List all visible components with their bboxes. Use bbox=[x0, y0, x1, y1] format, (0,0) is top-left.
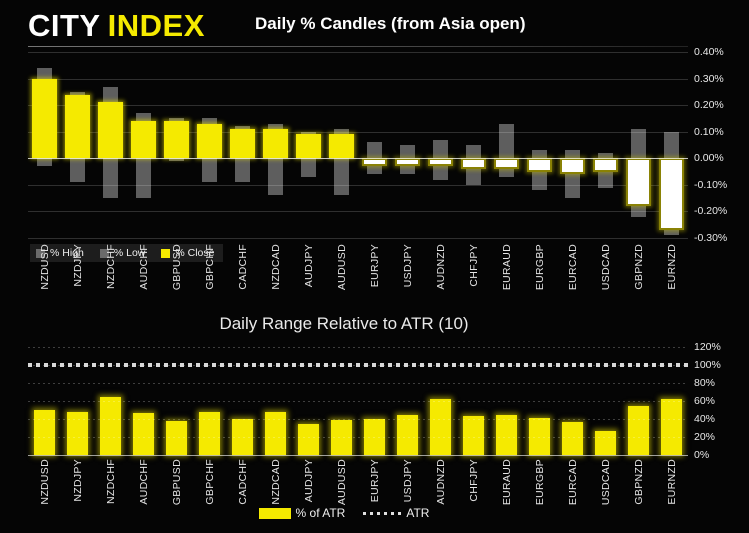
candle-body-down bbox=[626, 158, 651, 206]
chart2-y-tick-label: 120% bbox=[694, 341, 721, 353]
candle-body-up bbox=[98, 102, 123, 158]
chart1-x-tick-label: USDCAD bbox=[600, 244, 612, 290]
chart2-x-tick-label: EURAUD bbox=[501, 459, 513, 505]
chart1-x-tick: EURNZD bbox=[655, 242, 688, 314]
chart1-candle-cadchf[interactable] bbox=[226, 52, 259, 238]
chart1-candle-gbpusd[interactable] bbox=[160, 52, 193, 238]
chart1-x-tick-label: NZDJPY bbox=[72, 244, 84, 287]
chart1-x-tick: USDJPY bbox=[391, 242, 424, 314]
chart1-gridline bbox=[28, 52, 688, 53]
chart1-candle-nzdusd[interactable] bbox=[28, 52, 61, 238]
chart1-y-tick-label: 0.40% bbox=[694, 46, 724, 58]
chart1-gridline bbox=[28, 105, 688, 106]
chart1-candle-usdcad[interactable] bbox=[589, 52, 622, 238]
chart1-x-axis: NZDUSDNZDJPYNZDCHFAUDCHFGBPUSDGBPCHFCADC… bbox=[28, 242, 688, 314]
chart1-x-tick: NZDJPY bbox=[61, 242, 94, 314]
chart1-x-tick-label: AUDJPY bbox=[303, 244, 315, 287]
chart2-x-tick-label: GBPNZD bbox=[633, 459, 645, 505]
chart1-candle-columns bbox=[28, 52, 688, 238]
chart2-legend: % of ATR ATR bbox=[0, 506, 660, 520]
chart2-y-tick-label: 0% bbox=[694, 449, 709, 461]
chart1-gridline bbox=[28, 238, 688, 239]
chart2-x-tick-label: USDCAD bbox=[600, 459, 612, 505]
chart1-y-tick-label: -0.30% bbox=[694, 232, 727, 244]
brand-logo: CITYINDEX bbox=[28, 8, 205, 44]
chart2-gridline bbox=[28, 437, 688, 438]
dashboard-root: CITYINDEX Daily % Candles (from Asia ope… bbox=[0, 0, 749, 533]
chart1-x-tick-label: CADCHF bbox=[237, 244, 249, 290]
candle-body-down bbox=[593, 158, 618, 171]
chart1-x-tick-label: AUDNZD bbox=[435, 244, 447, 290]
chart2-x-tick-label: AUDCHF bbox=[138, 459, 150, 505]
chart2-atr-reference-line bbox=[28, 363, 688, 367]
candle-body-up bbox=[230, 129, 255, 158]
atr-bar bbox=[100, 397, 122, 455]
chart1-x-tick: EURAUD bbox=[490, 242, 523, 314]
chart1-candle-chfjpy[interactable] bbox=[457, 52, 490, 238]
atr-bar bbox=[34, 410, 56, 455]
chart1-candle-euraud[interactable] bbox=[490, 52, 523, 238]
chart1-x-tick-label: CHFJPY bbox=[468, 244, 480, 287]
chart1-x-tick-label: NZDCAD bbox=[270, 244, 282, 290]
chart1-candle-usdjpy[interactable] bbox=[391, 52, 424, 238]
chart1-candle-gbpchf[interactable] bbox=[193, 52, 226, 238]
legend-label-atr: ATR bbox=[406, 506, 429, 520]
chart1-x-tick: GBPCHF bbox=[193, 242, 226, 314]
chart1-x-tick: CHFJPY bbox=[457, 242, 490, 314]
candle-body-down bbox=[494, 158, 519, 169]
candle-body-down bbox=[527, 158, 552, 171]
chart1-y-tick-label: 0.00% bbox=[694, 152, 724, 164]
chart1-x-tick: USDCAD bbox=[589, 242, 622, 314]
chart2-x-tick-label: EURGBP bbox=[534, 459, 546, 505]
chart2-x-tick-label: EURCAD bbox=[567, 459, 579, 505]
candle-body-up bbox=[197, 124, 222, 159]
chart1-x-tick: AUDCHF bbox=[127, 242, 160, 314]
candle-body-up bbox=[263, 129, 288, 158]
atr-bar bbox=[562, 422, 584, 455]
atr-bar bbox=[496, 415, 518, 455]
chart2-x-tick-label: NZDJPY bbox=[72, 459, 84, 502]
chart1-x-tick-label: EURGBP bbox=[534, 244, 546, 290]
chart2-x-tick-label: NZDCHF bbox=[105, 459, 117, 504]
chart1-gridline bbox=[28, 211, 688, 212]
chart2-x-tick-label: EURJPY bbox=[369, 459, 381, 502]
brand-index: INDEX bbox=[108, 8, 205, 43]
chart1-candle-nzdchf[interactable] bbox=[94, 52, 127, 238]
chart2-y-tick-label: 100% bbox=[694, 359, 721, 371]
candle-body-down bbox=[461, 158, 486, 169]
chart1-candle-nzdjpy[interactable] bbox=[61, 52, 94, 238]
chart1-y-tick-label: 0.20% bbox=[694, 99, 724, 111]
chart1-x-tick: EURGBP bbox=[523, 242, 556, 314]
chart2-y-tick-label: 20% bbox=[694, 431, 715, 443]
chart1-candle-audchf[interactable] bbox=[127, 52, 160, 238]
chart1-y-tick-label: 0.10% bbox=[694, 126, 724, 138]
chart1-x-tick: AUDUSD bbox=[325, 242, 358, 314]
chart1-x-tick-label: NZDCHF bbox=[105, 244, 117, 289]
chart1-x-tick: GBPNZD bbox=[622, 242, 655, 314]
atr-bar bbox=[463, 416, 485, 455]
atr-bar bbox=[298, 424, 320, 456]
chart2-baseline bbox=[28, 455, 688, 456]
chart2-x-tick-label: CADCHF bbox=[237, 459, 249, 505]
atr-bar bbox=[397, 415, 419, 455]
candle-body-down bbox=[560, 158, 585, 174]
candle-body-up bbox=[329, 134, 354, 158]
chart1-x-tick-label: EURCAD bbox=[567, 244, 579, 290]
chart1-x-tick-label: NZDUSD bbox=[39, 244, 51, 290]
chart1-zero-line bbox=[28, 158, 688, 159]
chart2-x-tick-label: AUDUSD bbox=[336, 459, 348, 505]
chart1-x-tick: AUDJPY bbox=[292, 242, 325, 314]
chart2-title: Daily Range Relative to ATR (10) bbox=[0, 314, 660, 334]
chart2-gridline bbox=[28, 401, 688, 402]
atr-bar bbox=[430, 399, 452, 455]
candle-body-up bbox=[131, 121, 156, 158]
legend-label-pct-atr: % of ATR bbox=[296, 506, 346, 520]
chart1-x-tick-label: AUDUSD bbox=[336, 244, 348, 290]
chart1-x-tick: GBPUSD bbox=[160, 242, 193, 314]
chart1-x-tick-label: AUDCHF bbox=[138, 244, 150, 290]
chart1-candle-nzdcad[interactable] bbox=[259, 52, 292, 238]
candle-body-down bbox=[428, 158, 453, 166]
candle-body-down bbox=[659, 158, 684, 230]
chart2-x-tick-label: AUDNZD bbox=[435, 459, 447, 505]
chart2-gridline bbox=[28, 347, 688, 348]
legend-item-pct-of-atr: % of ATR bbox=[259, 506, 346, 520]
chart1-x-tick-label: GBPNZD bbox=[633, 244, 645, 290]
daily-percent-candles-chart: 0.40%0.30%0.20%0.10%0.00%-0.10%-0.20%-0.… bbox=[0, 46, 749, 314]
candle-body-up bbox=[32, 79, 57, 159]
chart2-y-tick-label: 80% bbox=[694, 377, 715, 389]
page-header: CITYINDEX Daily % Candles (from Asia ope… bbox=[0, 0, 749, 46]
chart1-x-tick: EURCAD bbox=[556, 242, 589, 314]
chart1-y-tick-label: -0.10% bbox=[694, 179, 727, 191]
atr-bar bbox=[628, 406, 650, 455]
legend-swatch-pct-atr-icon bbox=[259, 508, 291, 519]
chart2-y-tick-label: 60% bbox=[694, 395, 715, 407]
chart1-gridline bbox=[28, 132, 688, 133]
atr-bar bbox=[661, 399, 683, 455]
candle-body-up bbox=[164, 121, 189, 158]
chart2-x-tick-label: NZDUSD bbox=[39, 459, 51, 505]
chart1-candle-audusd[interactable] bbox=[325, 52, 358, 238]
chart1-candle-gbpnzd[interactable] bbox=[622, 52, 655, 238]
chart1-candle-audjpy[interactable] bbox=[292, 52, 325, 238]
chart2-gridline bbox=[28, 383, 688, 384]
chart1-gridline bbox=[28, 79, 688, 80]
chart2-x-tick-label: EURNZD bbox=[666, 459, 678, 505]
chart1-candle-eurcad[interactable] bbox=[556, 52, 589, 238]
chart2-y-tick-label: 40% bbox=[694, 413, 715, 425]
legend-swatch-atr-icon bbox=[363, 512, 401, 515]
chart1-x-tick-label: GBPCHF bbox=[204, 244, 216, 290]
chart1-x-tick: CADCHF bbox=[226, 242, 259, 314]
chart1-x-tick: NZDUSD bbox=[28, 242, 61, 314]
chart1-x-tick-label: EURNZD bbox=[666, 244, 678, 290]
chart1-candle-eurgbp[interactable] bbox=[523, 52, 556, 238]
chart1-x-tick: EURJPY bbox=[358, 242, 391, 314]
chart2-x-tick-label: GBPCHF bbox=[204, 459, 216, 505]
atr-bar bbox=[595, 431, 617, 455]
chart1-candle-eurnzd[interactable] bbox=[655, 52, 688, 238]
chart2-x-tick-label: GBPUSD bbox=[171, 459, 183, 505]
chart1-x-tick: NZDCHF bbox=[94, 242, 127, 314]
candle-body-down bbox=[362, 158, 387, 166]
chart1-y-tick-label: -0.20% bbox=[694, 205, 727, 217]
chart1-x-tick-label: GBPUSD bbox=[171, 244, 183, 290]
chart2-gridline bbox=[28, 419, 688, 420]
chart1-candle-eurjpy[interactable] bbox=[358, 52, 391, 238]
chart1-x-tick-label: USDJPY bbox=[402, 244, 414, 287]
candle-body-up bbox=[65, 95, 90, 159]
chart1-candle-audnzd[interactable] bbox=[424, 52, 457, 238]
chart1-gridline bbox=[28, 185, 688, 186]
brand-city: CITY bbox=[28, 8, 101, 43]
chart2-x-tick-label: CHFJPY bbox=[468, 459, 480, 502]
chart2-x-tick-label: NZDCAD bbox=[270, 459, 282, 505]
candle-body-down bbox=[395, 158, 420, 166]
chart1-x-tick: NZDCAD bbox=[259, 242, 292, 314]
chart2-plot-area bbox=[28, 347, 688, 455]
legend-item-atr: ATR bbox=[363, 506, 429, 520]
candle-body-up bbox=[296, 134, 321, 158]
chart1-y-tick-label: 0.30% bbox=[694, 73, 724, 85]
chart1-plot-area bbox=[28, 52, 688, 238]
chart1-title: Daily % Candles (from Asia open) bbox=[255, 14, 525, 34]
daily-range-atr-chart: Daily Range Relative to ATR (10) 120%100… bbox=[0, 314, 749, 533]
chart2-x-tick-label: USDJPY bbox=[402, 459, 414, 502]
chart1-x-tick-label: EURJPY bbox=[369, 244, 381, 287]
chart1-x-tick: AUDNZD bbox=[424, 242, 457, 314]
chart1-x-tick-label: EURAUD bbox=[501, 244, 513, 290]
chart2-x-tick-label: AUDJPY bbox=[303, 459, 315, 502]
